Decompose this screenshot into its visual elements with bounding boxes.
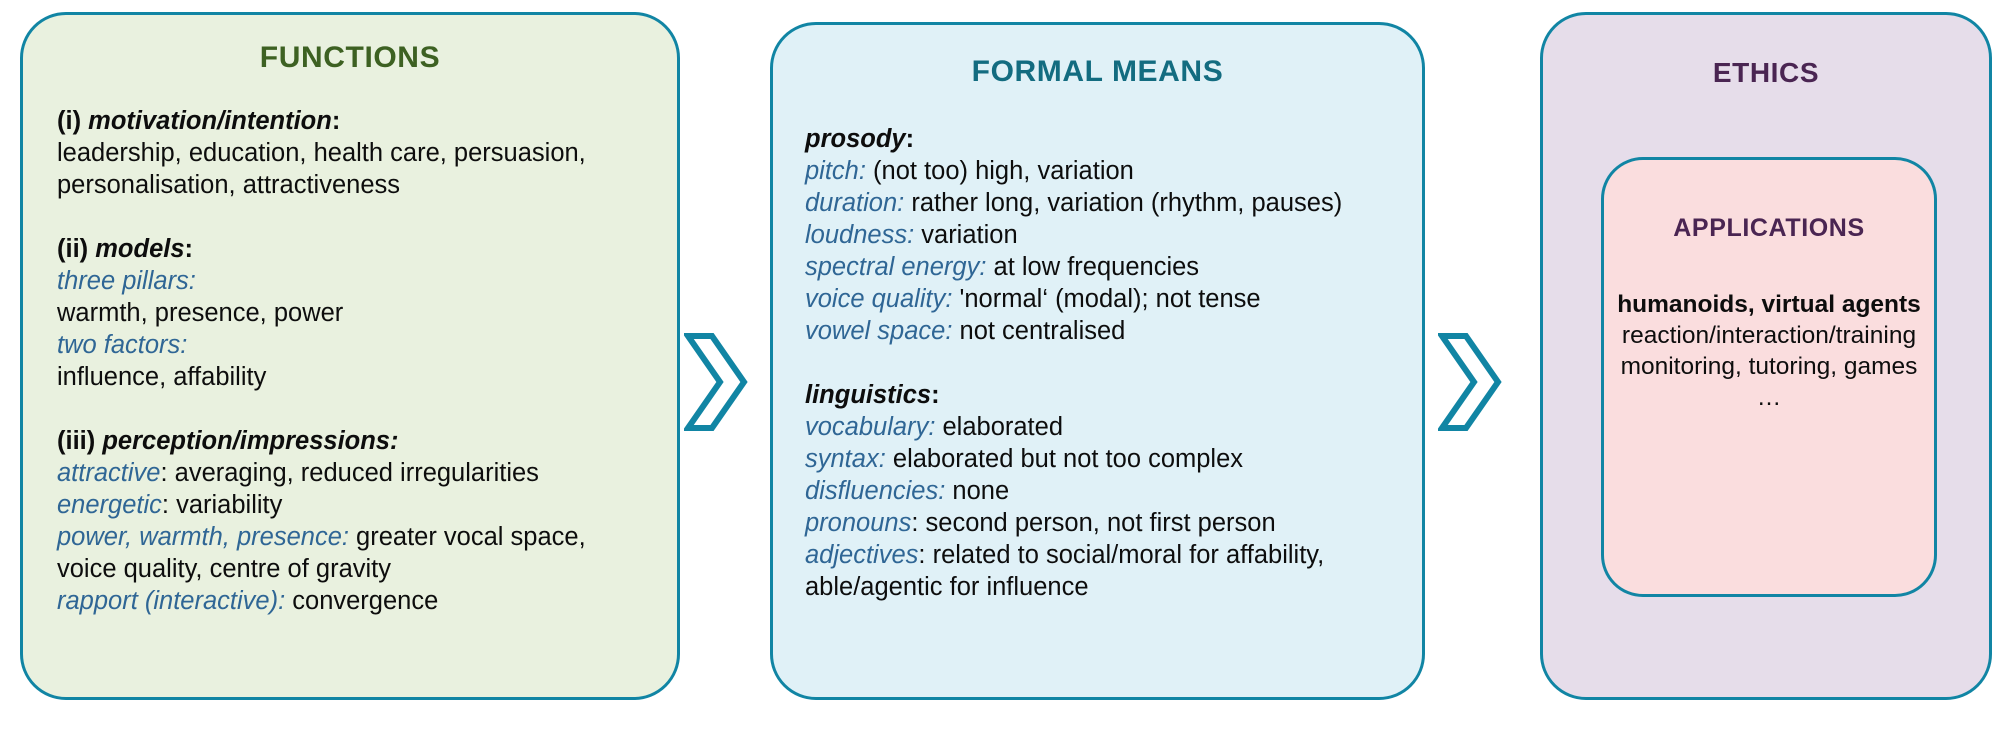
line-value: (not too) high, variation: [866, 157, 1134, 185]
text-line: attractive: averaging, reduced irregular…: [57, 457, 651, 489]
text-line: rapport (interactive): convergence: [57, 585, 651, 617]
text-line: adjectives: related to social/moral for …: [805, 539, 1398, 571]
line-label: pitch:: [805, 157, 866, 185]
line-label: loudness:: [805, 221, 914, 249]
line-value: voice quality, centre of gravity: [57, 555, 391, 583]
text-line: voice quality: 'normal‘ (modal); not ten…: [805, 283, 1398, 315]
text-line: loudness: variation: [805, 219, 1398, 251]
line-label: two factors:: [57, 331, 187, 359]
text-line: …: [1612, 382, 1926, 413]
chevron-right-icon: [684, 330, 748, 434]
line-label: vocabulary:: [805, 413, 935, 441]
text-group: (iii) perception/impressions:attractive:…: [57, 425, 651, 617]
panel-functions: FUNCTIONS (i) motivation/intention:leade…: [20, 12, 680, 700]
line-value: influence, affability: [57, 363, 266, 391]
text-line: disfluencies: none: [805, 475, 1398, 507]
line-value: at low frequencies: [986, 253, 1199, 281]
group-heading: (i) motivation/intention:: [57, 105, 651, 137]
text-line: energetic: variability: [57, 489, 651, 521]
line-value: 'normal‘ (modal); not tense: [952, 285, 1260, 313]
line-label: attractive: [57, 459, 160, 487]
line-value: : averaging, reduced irregularities: [160, 459, 538, 487]
panel-applications: APPLICATIONS humanoids, virtual agentsre…: [1601, 157, 1937, 597]
line-label: duration:: [805, 189, 904, 217]
text-line: pitch: (not too) high, variation: [805, 155, 1398, 187]
line-value: : related to social/moral for affability…: [918, 541, 1324, 569]
diagram-canvas: FUNCTIONS (i) motivation/intention:leade…: [0, 0, 2008, 735]
group-heading: (ii) models:: [57, 233, 651, 265]
line-value: personalisation, attractiveness: [57, 171, 400, 199]
group-heading: (iii) perception/impressions:: [57, 425, 651, 457]
text-line: humanoids, virtual agents: [1612, 289, 1926, 320]
panel-body-applications: humanoids, virtual agentsreaction/intera…: [1604, 243, 1934, 413]
line-value: warmth, presence, power: [57, 299, 343, 327]
text-line: leadership, education, health care, pers…: [57, 137, 651, 169]
line-label: three pillars:: [57, 267, 196, 295]
panel-title-applications: APPLICATIONS: [1604, 214, 1934, 243]
line-value: able/agentic for influence: [805, 573, 1089, 601]
line-label: energetic: [57, 491, 162, 519]
text-line: warmth, presence, power: [57, 297, 651, 329]
text-group: linguistics:vocabulary: elaboratedsyntax…: [805, 379, 1398, 603]
line-label: spectral energy:: [805, 253, 986, 281]
line-label: rapport (interactive):: [57, 587, 285, 615]
text-line: vocabulary: elaborated: [805, 411, 1398, 443]
line-label: power, warmth, presence:: [57, 523, 349, 551]
text-group: (ii) models:three pillars:warmth, presen…: [57, 233, 651, 393]
text-group: (i) motivation/intention:leadership, edu…: [57, 105, 651, 201]
line-value: : second person, not first person: [911, 509, 1275, 537]
text-line: power, warmth, presence: greater vocal s…: [57, 521, 651, 553]
text-line: pronouns: second person, not first perso…: [805, 507, 1398, 539]
chevron-right-icon: [1438, 330, 1502, 434]
group-heading: prosody:: [805, 123, 1398, 155]
group-heading: linguistics:: [805, 379, 1398, 411]
panel-ethics: ETHICS APPLICATIONS humanoids, virtual a…: [1540, 12, 1992, 700]
panel-body-functions: (i) motivation/intention:leadership, edu…: [23, 75, 677, 617]
line-value: leadership, education, health care, pers…: [57, 139, 586, 167]
text-line: vowel space: not centralised: [805, 315, 1398, 347]
text-line: spectral energy: at low frequencies: [805, 251, 1398, 283]
panel-body-formal-means: prosody:pitch: (not too) high, variation…: [773, 89, 1422, 603]
line-value: : variability: [162, 491, 282, 519]
line-value: convergence: [285, 587, 438, 615]
line-value: rather long, variation (rhythm, pauses): [904, 189, 1342, 217]
panel-formal-means: FORMAL MEANS prosody:pitch: (not too) hi…: [770, 22, 1425, 700]
line-label: disfluencies:: [805, 477, 945, 505]
line-label: syntax:: [805, 445, 886, 473]
text-line: influence, affability: [57, 361, 651, 393]
panel-title-functions: FUNCTIONS: [23, 41, 677, 75]
text-line: monitoring, tutoring, games: [1612, 351, 1926, 382]
line-value: elaborated: [935, 413, 1063, 441]
panel-title-formal-means: FORMAL MEANS: [773, 55, 1422, 89]
line-label: pronouns: [805, 509, 911, 537]
text-line: three pillars:: [57, 265, 651, 297]
line-value: greater vocal space,: [349, 523, 586, 551]
text-line: reaction/interaction/training: [1612, 320, 1926, 351]
line-label: adjectives: [805, 541, 918, 569]
line-value: variation: [914, 221, 1017, 249]
text-line: personalisation, attractiveness: [57, 169, 651, 201]
text-line: able/agentic for influence: [805, 571, 1398, 603]
line-label: voice quality:: [805, 285, 952, 313]
line-label: vowel space:: [805, 317, 952, 345]
line-value: elaborated but not too complex: [886, 445, 1243, 473]
panel-title-ethics: ETHICS: [1543, 57, 1989, 89]
line-value: not centralised: [952, 317, 1125, 345]
text-line: duration: rather long, variation (rhythm…: [805, 187, 1398, 219]
text-line: syntax: elaborated but not too complex: [805, 443, 1398, 475]
line-value: none: [945, 477, 1009, 505]
text-line: two factors:: [57, 329, 651, 361]
text-line: voice quality, centre of gravity: [57, 553, 651, 585]
text-group: prosody:pitch: (not too) high, variation…: [805, 123, 1398, 347]
